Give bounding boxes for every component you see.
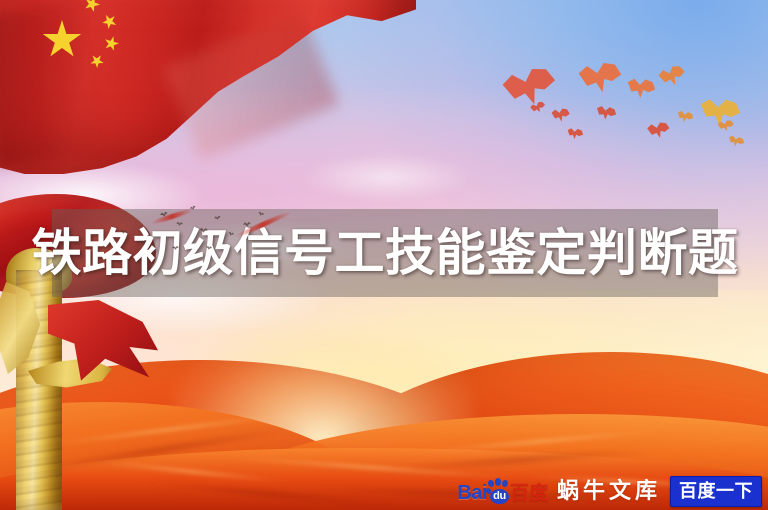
- baidu-search-button[interactable]: 百度一下: [670, 476, 762, 507]
- baidu-wordmark-cn: 百度: [510, 484, 548, 503]
- page-title: 铁路初级信号工技能鉴定判断题: [32, 228, 739, 278]
- library-brand-label: 蜗牛文库: [557, 480, 661, 502]
- paw-icon: du: [486, 479, 510, 503]
- watermark-bar: Bai du 百度 蜗牛文库 百度一下: [457, 476, 762, 506]
- paw-pad-1: [487, 479, 495, 488]
- paw-pad-3: [501, 479, 509, 488]
- baidu-wordmark-latin: Bai: [457, 483, 487, 503]
- poster-canvas: 铁路初级信号工技能鉴定判断题 Bai du 百度 蜗牛文库 百度一下: [0, 0, 768, 510]
- baidu-logo[interactable]: Bai du 百度: [457, 479, 548, 503]
- paw-pad-2: [495, 478, 501, 486]
- baidu-du-badge: du: [490, 489, 509, 504]
- national-flag: [0, 0, 416, 174]
